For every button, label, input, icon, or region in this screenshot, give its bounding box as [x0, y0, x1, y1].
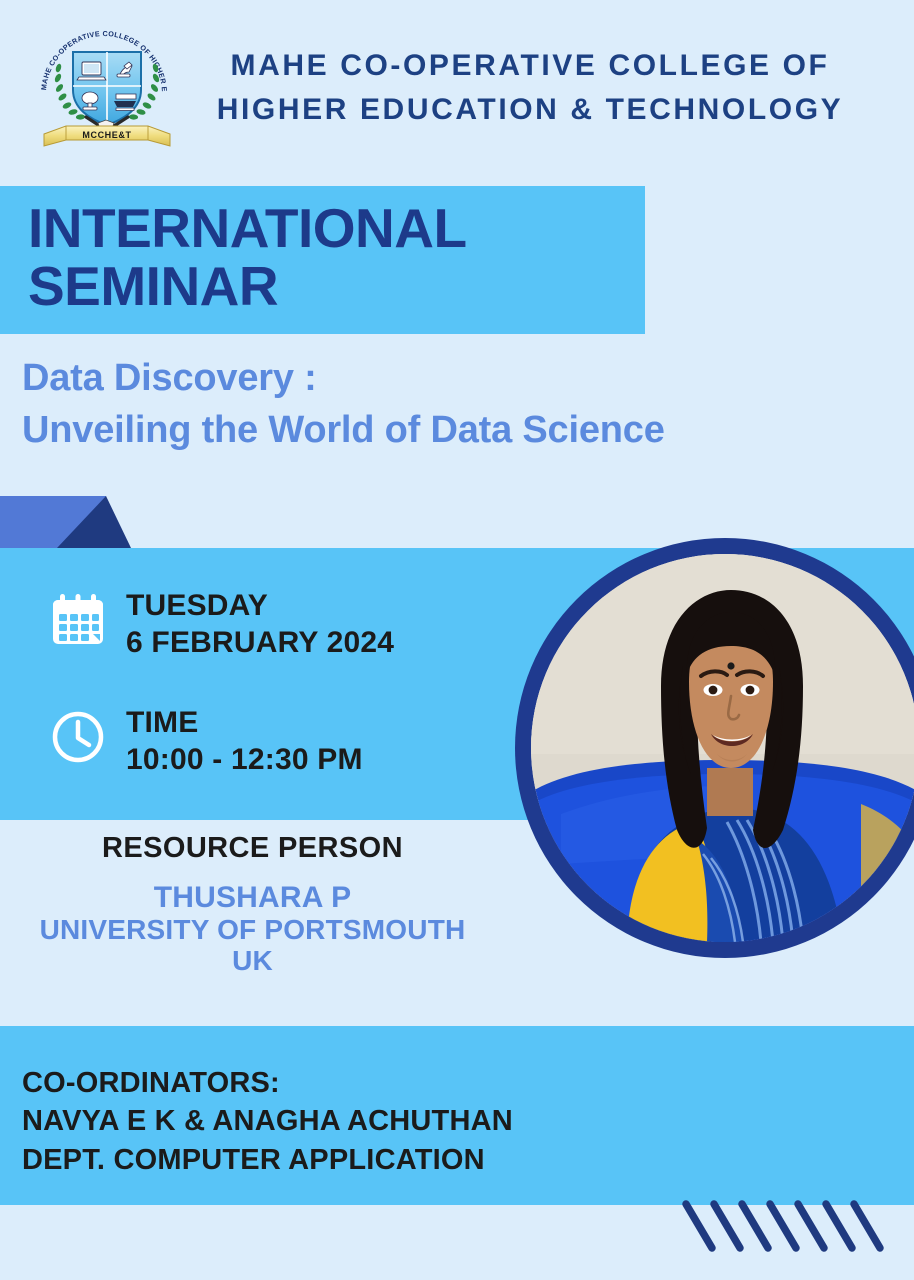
resource-person-country: UK — [0, 945, 505, 976]
resource-person-photo — [515, 538, 914, 958]
college-name: MAHE CO-OPERATIVE COLLEGE OF HIGHER EDUC… — [200, 44, 860, 131]
seminar-topic-line1: Data Discovery : — [22, 352, 882, 404]
event-type-line1: INTERNATIONAL — [28, 186, 645, 258]
event-day: TUESDAY — [126, 588, 394, 625]
event-date-row: TUESDAY 6 FEBRUARY 2024 — [50, 588, 480, 661]
event-time-value: 10:00 - 12:30 PM — [126, 742, 363, 779]
coordinators-label: CO-ORDINATORS: — [22, 1064, 513, 1102]
clock-icon — [50, 709, 106, 765]
seminar-topic-line2: Unveiling the World of Data Science — [22, 404, 882, 456]
event-type-line2: SEMINAR — [28, 258, 645, 316]
resource-person-name: THUSHARA P — [0, 882, 505, 914]
coordinators-names: NAVYA E K & ANAGHA ACHUTHAN — [22, 1102, 513, 1140]
event-time-text: TIME 10:00 - 12:30 PM — [126, 705, 363, 778]
coordinators-department: DEPT. COMPUTER APPLICATION — [22, 1141, 513, 1179]
svg-text:MCCHE&T: MCCHE&T — [82, 130, 131, 140]
event-date-text: TUESDAY 6 FEBRUARY 2024 — [126, 588, 394, 661]
coordinators-text: CO-ORDINATORS: NAVYA E K & ANAGHA ACHUTH… — [22, 1064, 513, 1179]
event-time-label: TIME — [126, 705, 363, 742]
college-name-line2: HIGHER EDUCATION & TECHNOLOGY — [200, 88, 860, 132]
poster-header: MAHE CO-OPERATIVE COLLEGE OF HIGHER EDUC… — [0, 0, 914, 175]
event-date: 6 FEBRUARY 2024 — [126, 625, 394, 662]
event-type-band: INTERNATIONAL SEMINAR — [0, 186, 645, 334]
diagonal-stripes-decoration — [674, 1190, 904, 1262]
college-crest-logo: MAHE CO-OPERATIVE COLLEGE OF HIGHER EDUC… — [28, 22, 186, 152]
resource-person-section: RESOURCE PERSON THUSHARA P UNIVERSITY OF… — [0, 832, 505, 977]
seminar-topic: Data Discovery : Unveiling the World of … — [22, 352, 882, 456]
event-time-row: TIME 10:00 - 12:30 PM — [50, 705, 480, 778]
resource-person-org: UNIVERSITY OF PORTSMOUTH — [0, 914, 505, 945]
coordinators-band: CO-ORDINATORS: NAVYA E K & ANAGHA ACHUTH… — [0, 1026, 914, 1205]
event-details-list: TUESDAY 6 FEBRUARY 2024 TIME 10:00 - 12:… — [50, 588, 480, 822]
resource-person-label: RESOURCE PERSON — [0, 832, 505, 865]
seminar-poster: MAHE CO-OPERATIVE COLLEGE OF HIGHER EDUC… — [0, 0, 914, 1280]
avatar — [531, 554, 914, 942]
college-name-line1: MAHE CO-OPERATIVE COLLEGE OF — [200, 44, 860, 88]
calendar-icon — [50, 592, 106, 648]
